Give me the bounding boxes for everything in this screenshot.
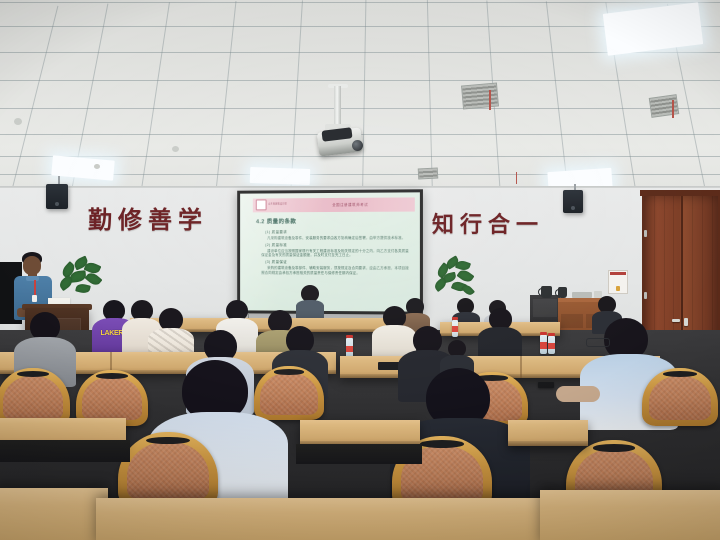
eyeglasses-icon [586,338,610,347]
air-vent [461,82,499,109]
training-table [300,420,420,446]
fire-safety-sign [608,270,628,294]
foreground-table [0,488,108,540]
projector-lens [352,140,363,151]
right-wall-speaker [563,190,583,213]
sprinkler-pipe [672,100,674,118]
training-table [508,420,588,446]
wall-calligraphy-right: 知行合一 [432,207,544,239]
serving-tray [572,292,592,298]
air-vent [649,94,680,118]
projection-screen-frame: 山东省建筑设计院 全国注册建筑师考试 4.2 质量的条款 (1) 质量要求 凡采… [237,189,423,314]
slide-block-head: (1) 质量要求 [265,230,411,235]
slide-block-text: 建设单位应当按照国家现行有关工程建设标准及相关规定的十分之内，向乙方支付各类质量… [261,248,410,258]
foreground-table [96,498,552,540]
slide-header-title: 全国注册建筑师考试 [287,202,414,208]
water-bottle [346,338,353,358]
ceiling-sensor [14,118,22,125]
banquet-chair[interactable] [118,432,218,508]
air-vent [418,167,439,179]
slide-body: (1) 质量要求 凡采购建筑设备及零件、安装服务的要求由各方协商确定后签署，由甲… [261,228,410,276]
attendee [478,308,522,362]
ceiling-light [250,167,311,185]
slide-section-title: 4.2 质量的条款 [256,217,296,225]
slide-block-head: (2) 质量标准 [265,243,411,248]
foreground-table [540,490,720,540]
left-wall-speaker [46,184,68,209]
electric-kettle [541,286,552,298]
ceiling-sensor [172,146,179,152]
slide-block-text: 凡采购建筑设备及零件、安装服务的要求由各方协商确定后签署，由甲方提供技术标准。 [261,236,410,241]
presenter-collar [26,276,39,281]
door-handle[interactable] [684,318,688,326]
projector-mount-pole [334,86,341,126]
ceiling-light [603,2,703,55]
sprinkler-pipe [516,172,517,184]
table-modesty-panel [296,444,422,464]
attendee-arm [556,386,600,402]
sprinkler-pipe [489,90,491,110]
smartphone [538,382,554,388]
door-hinge [644,230,647,237]
slide-block-text: 采购的建筑设备及零部件、辅助安装服务，须按规定及合同要求，应由乙方承担，本项目按… [261,266,410,276]
slide-logo-text: 山东省建筑设计院 [268,204,287,207]
ceiling-light [51,155,115,180]
slide-header-band: 山东省建筑设计院 全国注册建筑师考试 [252,197,414,212]
water-bottle [548,336,555,354]
thermos-flask [558,287,567,298]
banquet-chair[interactable] [642,368,718,426]
water-bottle [540,335,547,354]
slide-logo-icon [255,200,266,211]
wall-calligraphy-left: 勤修善学 [88,200,208,235]
conference-room-photo: 勤修善学 知行合一 山东省建筑设计院 全国注册建筑师考试 4.2 质量的条款 (… [0,0,720,540]
table-modesty-panel [0,440,130,462]
suspended-ceiling [0,0,720,196]
projected-slide: 山东省建筑设计院 全国注册建筑师考试 4.2 质量的条款 (1) 质量要求 凡采… [240,192,420,311]
presenter-badge [32,295,37,302]
podium-plant [58,258,104,300]
door-hinge [644,292,647,299]
ceiling-sensor [94,164,100,169]
slide-block-head: (3) 质量保证 [265,260,411,265]
presenter-lanyard [34,280,36,296]
